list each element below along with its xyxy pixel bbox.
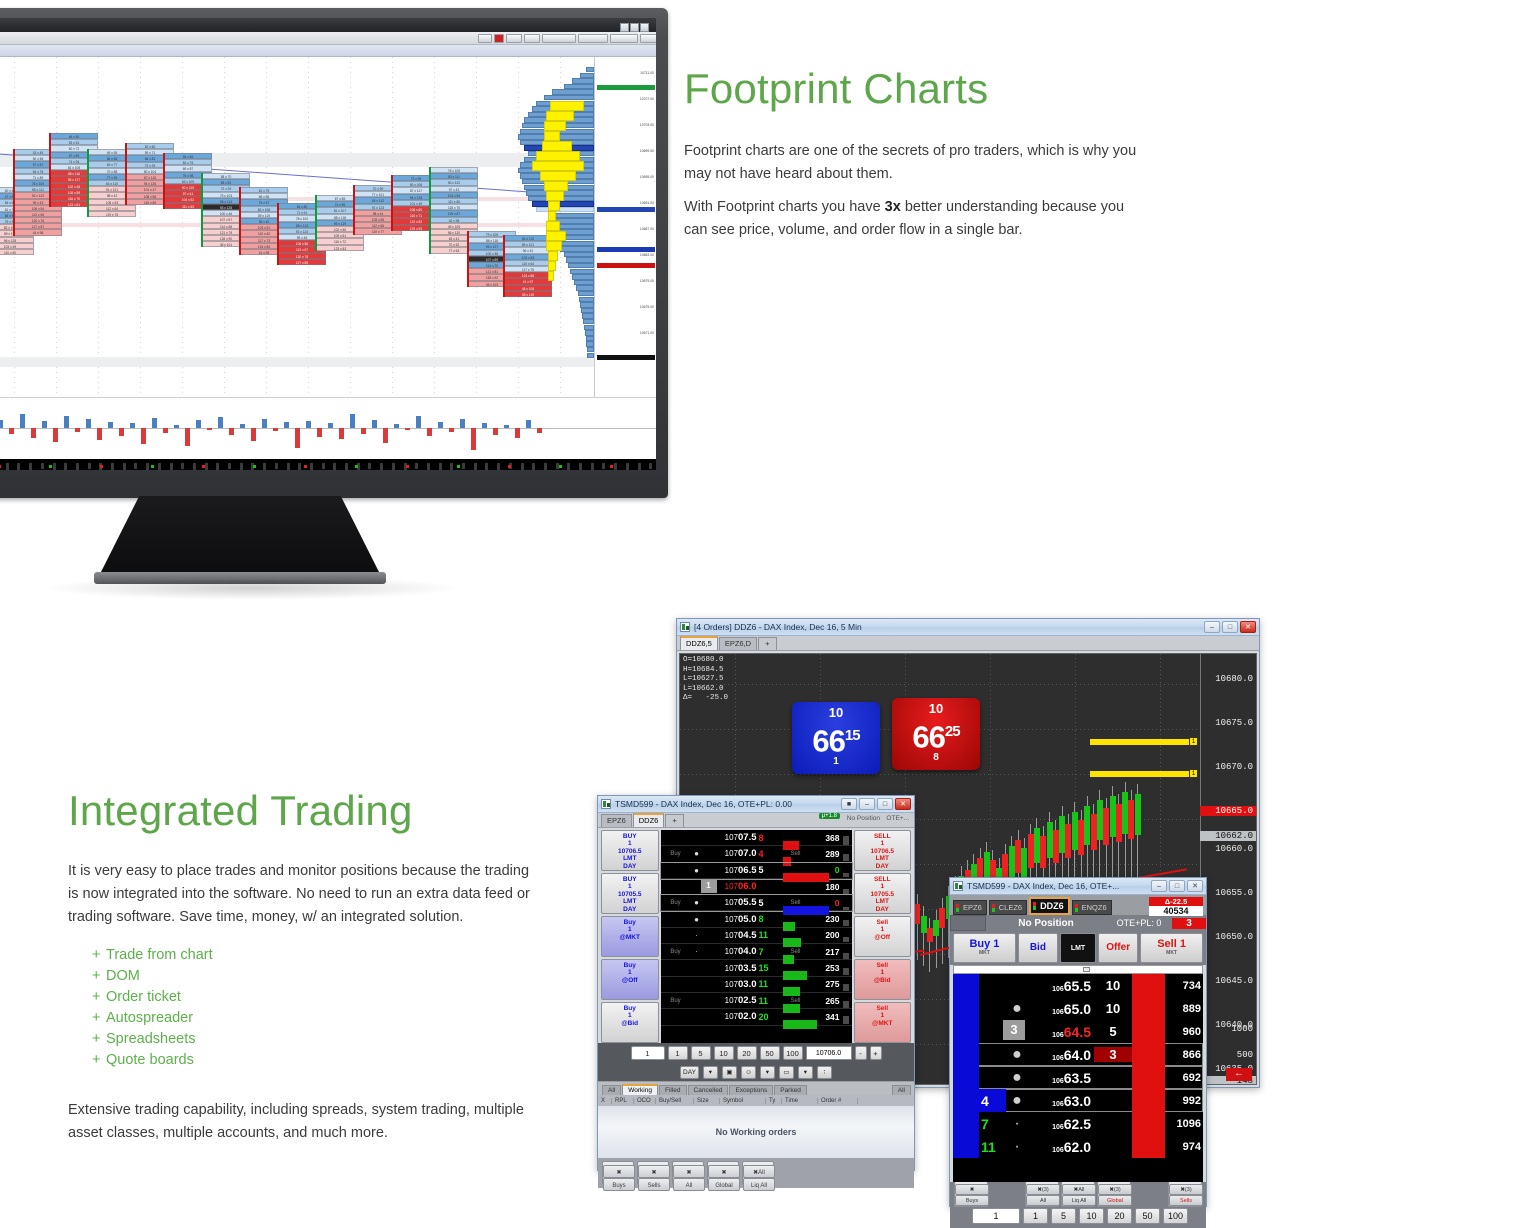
- footer-spacer: [990, 1193, 1023, 1195]
- footer-spacer: [1133, 1193, 1166, 1195]
- order-quantity-tag: 1: [1189, 769, 1198, 778]
- orders-tab-exceptions[interactable]: Exceptions: [729, 1085, 773, 1095]
- dom2-window-buttons[interactable]: ‒ □ ✕: [1151, 880, 1203, 892]
- maximize-icon[interactable]: □: [1169, 880, 1185, 892]
- dom-tool-button[interactable]: ▾: [760, 1066, 775, 1079]
- cancel-icon: ✖(3): [1169, 1184, 1203, 1195]
- tape-tick: [462, 463, 465, 469]
- bid-cell[interactable]: Buy: [661, 900, 691, 906]
- quantity-button[interactable]: 10: [714, 1046, 734, 1060]
- delta-bar: [405, 428, 410, 430]
- buy-order-button[interactable]: BUY110705.5LMTDAY: [601, 873, 659, 914]
- buy-button[interactable]: Buy 1 MKT: [953, 933, 1016, 963]
- orders-tab-filled[interactable]: Filled: [659, 1085, 687, 1095]
- cancel-button-buys[interactable]: ✖Buys: [602, 1161, 634, 1185]
- bid-dot: ●: [691, 898, 703, 907]
- order-button-line: 1: [602, 926, 658, 933]
- dom2-action-buttons[interactable]: Buy 1 MKT Bid LMT Offer Sell 1 MKT: [950, 931, 1206, 965]
- dom2-tab-enqz6[interactable]: ENQZ6: [1072, 900, 1112, 915]
- ask-depth-bar: [1132, 1112, 1165, 1135]
- dom-window-buttons[interactable]: ■ ‒ □ ✕: [841, 798, 911, 810]
- ask-quote-bottom: 8: [892, 752, 980, 763]
- dom2-cancel-buttons[interactable]: ✖Buys✖(3)All✖AllLiq All✖(3)Global✖(3)Sel…: [950, 1182, 1206, 1206]
- maximize-icon[interactable]: □: [877, 798, 893, 810]
- maximize-icon[interactable]: □: [1222, 621, 1238, 633]
- orders-tab-all[interactable]: All: [602, 1085, 621, 1095]
- orders-column-header: Time: [782, 1098, 818, 1104]
- tape-tick: [123, 463, 126, 470]
- dom2-price: 10664.5: [1028, 1024, 1094, 1040]
- ladder-row[interactable]: 10702.020341: [661, 1009, 852, 1025]
- buy-button-column[interactable]: BUY110706.5LMTDAYBUY110705.5LMTDAYBuy1@M…: [601, 830, 659, 1043]
- dom2-cancel-sells[interactable]: ✖(3)Sells: [1168, 1181, 1202, 1207]
- toolbar-button[interactable]: [524, 34, 540, 43]
- pin-icon[interactable]: ■: [841, 798, 857, 810]
- ladder-volume: 217: [809, 947, 843, 957]
- volume-profile-bar: [536, 207, 594, 212]
- pnl-value: 40534: [1149, 906, 1203, 916]
- cancel-icon: ✖(3): [1098, 1184, 1132, 1195]
- scroll-back-icon[interactable]: ←: [1226, 1068, 1252, 1081]
- monitor-screen: 40 x 4047 x 5154 x 6261 x 7368 x 8475 x …: [0, 18, 656, 470]
- dom2-cancel-all[interactable]: ✖(3)All: [1025, 1181, 1059, 1207]
- delta-bar: [361, 428, 366, 434]
- dom2-quantity-current[interactable]: 1: [972, 1208, 1020, 1224]
- bar-close-marker: [503, 235, 505, 297]
- delta-bar: [427, 428, 432, 436]
- buy-button-sub: MKT: [954, 950, 1015, 956]
- order-button-line: 1: [855, 969, 911, 976]
- offer-button[interactable]: Offer: [1098, 933, 1138, 963]
- volume-profile-bar: [582, 313, 594, 318]
- volume-profile-bar: [586, 341, 594, 346]
- quantity-button[interactable]: 5: [691, 1046, 711, 1060]
- delta-bar: [207, 428, 212, 430]
- volume-profile-bar: [581, 308, 594, 313]
- orders-tab-cancelled[interactable]: Cancelled: [688, 1085, 729, 1095]
- sell-order-button[interactable]: Sell1@MKT: [854, 1002, 912, 1043]
- delta-bar: [130, 423, 135, 428]
- close-icon[interactable]: ✕: [1240, 621, 1256, 633]
- tape-tick: [228, 463, 231, 469]
- dom2-quantity-button[interactable]: 20: [1107, 1208, 1132, 1224]
- feature-label: DOM: [106, 968, 140, 984]
- value-area-overlay: [536, 151, 580, 161]
- ladder-row[interactable]: Buy·10704.07Sell217: [661, 944, 852, 960]
- ladder-price: 10704.5: [703, 930, 759, 941]
- dom2-ladder-row[interactable]: 10665.510734: [953, 974, 1203, 997]
- dom2-price: 10663.5: [1028, 1070, 1094, 1086]
- order-quantity-tag: 1: [1189, 737, 1198, 746]
- orders-column-header: OCO: [634, 1098, 656, 1104]
- toolbar-button[interactable]: [578, 34, 608, 43]
- dom-tool-button[interactable]: ▾: [703, 1066, 718, 1079]
- dom2-ladder-row[interactable]: ●10664.03866: [953, 1043, 1203, 1066]
- order-button-line: 1: [855, 883, 911, 890]
- value-area-overlay: [546, 111, 574, 121]
- volume-bar: [843, 880, 852, 894]
- bid-cell[interactable]: Buy: [661, 949, 691, 955]
- tape-tick: [614, 463, 617, 470]
- value-area-overlay: [544, 121, 566, 131]
- minimize-icon[interactable]: ‒: [1204, 621, 1220, 633]
- value-area-overlay: [542, 141, 572, 151]
- bid-quantity: 4: [979, 1089, 1006, 1112]
- volume-profile: [516, 57, 594, 397]
- dom2-cancel-global[interactable]: ✖(3)Global: [1097, 1181, 1131, 1207]
- dom-tab-[interactable]: +: [665, 814, 683, 827]
- volume-profile-bar: [572, 78, 594, 83]
- ask-quantity: 10: [1094, 978, 1132, 993]
- dom-status-no-position: No Position: [847, 815, 880, 822]
- minimize-icon[interactable]: ‒: [1151, 880, 1167, 892]
- delta-bar: [42, 421, 47, 428]
- dom2-ladder-row[interactable]: 7·10662.51096: [953, 1112, 1203, 1135]
- quantity-button[interactable]: 1: [631, 1046, 665, 1060]
- chart-gridline: [140, 57, 141, 397]
- price-scale-tick: 10670.0: [1215, 762, 1253, 772]
- price-tick: 10703.00: [640, 123, 654, 128]
- bid-cell[interactable]: Buy: [661, 851, 691, 857]
- orders-tabstrip[interactable]: AllWorkingFilledCancelledExceptionsParke…: [598, 1081, 914, 1095]
- ladder-row[interactable]: 10706.01801: [661, 879, 852, 895]
- dom2-volume: 992: [1165, 1095, 1203, 1107]
- dom-order-window[interactable]: TSMD599 - DAX Index, Dec 16, OTE+PL: 0.0…: [597, 795, 915, 1171]
- working-order-marker[interactable]: 1: [701, 879, 717, 893]
- cancel-label: Liq All: [743, 1178, 775, 1191]
- cancel-button-liq-all[interactable]: ✖AllLiq All: [742, 1161, 774, 1185]
- ask-depth-bar: [1132, 997, 1165, 1020]
- chart-tab-[interactable]: +: [758, 637, 776, 650]
- delta-bar: [350, 414, 355, 428]
- dom2-tab-ddz6[interactable]: DDZ6: [1029, 897, 1070, 915]
- dom2-window-titlebar[interactable]: TSMD599 - DAX Index, Dec 16, OTE+... ‒ □…: [950, 878, 1206, 895]
- sell-order-button[interactable]: SELL110705.5LMTDAY: [854, 873, 912, 914]
- ote-badge: 3: [1172, 918, 1206, 929]
- volume-profile-bar: [544, 95, 594, 100]
- tape-tick: [626, 463, 629, 470]
- ladder-price: 10705.5: [703, 897, 759, 908]
- orders-tab-all-right[interactable]: All: [892, 1085, 911, 1095]
- toolbar-button[interactable]: [494, 34, 504, 43]
- integrated-paragraph-1: It is very easy to place trades and moni…: [68, 860, 538, 930]
- close-icon[interactable]: ✕: [1187, 880, 1203, 892]
- feature-list-item: +Autospreader: [92, 1008, 422, 1029]
- bid-quantity: [979, 997, 1006, 1020]
- dom-tabstrip[interactable]: μ+1.8 No Position OTE+... EPZ6DDZ6+: [598, 813, 914, 828]
- dom2-ladder-row[interactable]: 11·10662.0974: [953, 1135, 1203, 1158]
- bid-button[interactable]: Bid: [1018, 933, 1058, 963]
- delta-bar: [306, 421, 311, 428]
- feature-label: Autospreader: [106, 1010, 193, 1026]
- dom-tool-button[interactable]: ∶: [817, 1066, 832, 1079]
- dom2-ladder-row[interactable]: ●10663.5692: [953, 1066, 1203, 1089]
- dom-tool-button[interactable]: DAY: [680, 1066, 699, 1079]
- toolbar-button[interactable]: [506, 34, 522, 43]
- tape-dot: [253, 465, 256, 468]
- price-input[interactable]: 10706.0: [806, 1046, 852, 1060]
- minimize-icon[interactable]: ‒: [859, 798, 875, 810]
- ask-quantity: 3: [1094, 1047, 1132, 1062]
- value-area-overlay: [548, 201, 560, 211]
- dom-tool-button[interactable]: ▭: [779, 1066, 794, 1079]
- dom2-quantity-button[interactable]: 5: [1051, 1208, 1076, 1224]
- order-button-line: LMT: [602, 855, 658, 862]
- tape-tick: [146, 463, 149, 470]
- buy-order-button[interactable]: Buy1@Bid: [601, 1002, 659, 1043]
- dom2-cancel-buys[interactable]: ✖Buys: [954, 1181, 988, 1207]
- bid-cell[interactable]: Buy: [661, 998, 691, 1004]
- ote-text: OTE+PL: 0: [1106, 918, 1172, 928]
- price-step-button[interactable]: -: [855, 1046, 867, 1060]
- ladder-row[interactable]: ●10706.550: [661, 863, 852, 879]
- order-button-line: SELL: [855, 833, 911, 840]
- dom2-tab-epz6[interactable]: EPZ6: [953, 900, 987, 915]
- ladder-quantity: 11: [759, 996, 783, 1006]
- orders-cancel-buttons[interactable]: ✖Buys✖Sells✖All✖Global✖AllLiq All: [598, 1158, 914, 1188]
- orders-tab-parked[interactable]: Parked: [774, 1085, 807, 1095]
- dom-ladder-grid[interactable]: BUY110706.5LMTDAYBUY110705.5LMTDAYBuy1@M…: [601, 830, 911, 1043]
- tape-tick: [450, 463, 453, 470]
- bid-depth-bar: [953, 1112, 979, 1135]
- order-button-line: 10706.5: [602, 848, 658, 855]
- value-area-overlay: [550, 101, 584, 111]
- dom2-quantity-buttons[interactable]: 115102050100: [950, 1206, 1206, 1228]
- tape-tick: [415, 463, 418, 469]
- volume-profile-bar: [566, 257, 594, 262]
- quantity-button[interactable]: 100: [783, 1046, 803, 1060]
- delta-bar: [218, 417, 223, 428]
- feature-list-item: +Quote boards: [92, 1050, 422, 1071]
- sell-button[interactable]: Sell 1 MKT: [1140, 933, 1203, 963]
- price-scale-tick: 10645.0: [1215, 976, 1253, 986]
- feature-list: +Trade from chart+DOM+Order ticket+Autos…: [92, 945, 422, 1071]
- chart-window-titlebar[interactable]: [4 Orders] DDZ6 - DAX Index, Dec 16, 5 M…: [677, 619, 1259, 636]
- ladder-row[interactable]: 10703.011275: [661, 977, 852, 993]
- orders-tab-working[interactable]: Working: [622, 1084, 658, 1095]
- bid-quote-top: 10: [792, 702, 880, 720]
- delta-bar: [383, 428, 388, 443]
- cancel-label: All: [673, 1178, 705, 1191]
- chart-tabstrip[interactable]: DDZ6,5EPZ6,D+: [677, 636, 1259, 651]
- app-toolbar-secondary[interactable]: [0, 45, 656, 57]
- ladder-volume: 289: [809, 849, 843, 859]
- tape-tick: [392, 463, 395, 470]
- volume-profile-bar: [583, 319, 594, 324]
- toolbar-button[interactable]: [610, 34, 638, 43]
- chart-gridline: [98, 57, 99, 397]
- ladder-row[interactable]: 10707.58368: [661, 830, 852, 846]
- footprint-cell: 119 x 75: [88, 211, 136, 217]
- dom-toolbar[interactable]: DAY▾▣☺▾▭▾∶: [598, 1063, 914, 1081]
- ladder-row[interactable]: Buy●10707.04Sell289: [661, 846, 852, 862]
- lmt-button[interactable]: LMT: [1060, 933, 1096, 963]
- cancel-button-sells[interactable]: ✖Sells: [637, 1161, 669, 1185]
- price-ladder[interactable]: 10707.58368Buy●10707.04Sell289●10706.550…: [661, 830, 852, 1043]
- dom2-quantity-button[interactable]: 50: [1135, 1208, 1160, 1224]
- dom-tool-button[interactable]: ▣: [722, 1066, 737, 1079]
- feature-label: Quote boards: [106, 1052, 194, 1068]
- value-area-overlay: [548, 211, 556, 221]
- chart-price-scale[interactable]: 10680.010675.010670.010665.010662.010660…: [1200, 654, 1256, 1084]
- ladder-row[interactable]: Buy●10705.55Sell0: [661, 895, 852, 911]
- value-area-overlay: [546, 191, 564, 201]
- app-toolbar-primary[interactable]: [0, 32, 656, 45]
- dom-window-titlebar[interactable]: TSMD599 - DAX Index, Dec 16, OTE+PL: 0.0…: [598, 796, 914, 813]
- horizontal-scrollbar[interactable]: [953, 965, 1203, 974]
- value-area-overlay: [544, 181, 568, 191]
- cancel-button-global[interactable]: ✖Global: [707, 1161, 739, 1185]
- ask-depth-bar: [1132, 1089, 1165, 1112]
- delta-bar: [471, 428, 476, 450]
- dom2-quantity-button[interactable]: 100: [1163, 1208, 1188, 1224]
- volume-bar: [843, 945, 852, 959]
- delta-bar: [372, 420, 377, 428]
- bid-quantity: [979, 1020, 1006, 1043]
- dom2-quantity-button[interactable]: 1: [1023, 1208, 1048, 1224]
- bid-quote-bottom: 1: [792, 756, 880, 767]
- delta-bar: [229, 428, 234, 435]
- chart-tab-epz6d[interactable]: EPZ6,D: [719, 637, 757, 650]
- delta-bar: [493, 428, 498, 435]
- chart-tab-ddz65[interactable]: DDZ6,5: [680, 636, 718, 650]
- dom2-ladder-row[interactable]: ●10665.010889: [953, 997, 1203, 1020]
- price-scale[interactable]: 10711.0010707.0010703.0010699.0010695.00…: [594, 57, 656, 397]
- value-area-overlay: [540, 171, 576, 181]
- ladder-quantity: 8: [759, 914, 783, 924]
- ladder-price: 10705.0: [703, 914, 759, 925]
- dom-tool-button[interactable]: ▾: [798, 1066, 813, 1079]
- orders-column-header: Ty: [766, 1098, 782, 1104]
- dom2-ladder-row[interactable]: 4●10663.0992: [953, 1089, 1203, 1112]
- dom-tool-button[interactable]: ☺: [741, 1066, 756, 1079]
- order-button-line: Sell: [855, 962, 911, 969]
- feature-label: Order ticket: [106, 989, 181, 1005]
- sell-order-button[interactable]: Sell1@Off: [854, 916, 912, 957]
- toolbar-button[interactable]: [542, 34, 576, 43]
- plus-icon: +: [92, 945, 106, 966]
- order-line-yellow[interactable]: [1090, 739, 1198, 745]
- quantity-button[interactable]: 50: [760, 1046, 780, 1060]
- cancel-icon: ✖: [603, 1165, 635, 1178]
- dom-window-title: TSMD599 - DAX Index, Dec 16, OTE+PL: 0.0…: [615, 799, 792, 809]
- buy-order-button[interactable]: Buy1@MKT: [601, 916, 659, 957]
- tape-tick: [333, 463, 336, 470]
- tape-tick: [263, 463, 266, 470]
- ladder-row[interactable]: Buy10702.511Sell265: [661, 993, 852, 1009]
- ladder-quantity: 5: [759, 898, 783, 908]
- plus-icon: +: [92, 1050, 106, 1071]
- bid-quantity: 7: [979, 1112, 1006, 1135]
- dom2-cancel-liq-all[interactable]: ✖AllLiq All: [1061, 1181, 1095, 1207]
- cancel-label: Sells: [638, 1178, 670, 1191]
- window-controls[interactable]: [619, 19, 653, 29]
- bar-close-marker: [163, 153, 165, 209]
- tape-tick: [497, 463, 500, 470]
- ladder-row[interactable]: 10703.515253: [661, 960, 852, 976]
- order-button-line: 1: [855, 1012, 911, 1019]
- quantity-button[interactable]: 1: [668, 1046, 688, 1060]
- ladder-row[interactable]: ·10704.511200: [661, 928, 852, 944]
- settle-price-label: 10662.0: [1200, 831, 1256, 841]
- tape-dot: [406, 465, 409, 468]
- buy-order-button[interactable]: BUY110706.5LMTDAY: [601, 830, 659, 871]
- order-button-line: DAY: [602, 906, 658, 913]
- tape-tick: [521, 463, 524, 470]
- ask-depth-bar: [1132, 1066, 1165, 1089]
- price-marker: [597, 247, 655, 252]
- order-button-line: LMT: [855, 855, 911, 862]
- volume-profile-bar: [570, 269, 594, 274]
- order-button-line: 1: [855, 840, 911, 847]
- dom-tab-ddz6[interactable]: DDZ6: [633, 813, 665, 827]
- delta-bar: [482, 423, 487, 428]
- cancel-icon: ✖All: [1062, 1184, 1096, 1195]
- price-tick: 10695.00: [640, 175, 654, 180]
- delta-bar: [108, 422, 113, 428]
- dom-secondary-window[interactable]: TSMD599 - DAX Index, Dec 16, OTE+... ‒ □…: [949, 877, 1207, 1207]
- integrated-trading-heading: Integrated Trading: [68, 788, 413, 834]
- dom2-price-ladder[interactable]: 10665.510734●10665.01088910664.559603●10…: [953, 974, 1203, 1182]
- chart-window-buttons[interactable]: ‒ □ ✕: [1204, 621, 1256, 633]
- orders-column-header: X: [598, 1098, 612, 1104]
- bid-quote-badge: 10 6615 1: [792, 702, 880, 774]
- sell-button-column[interactable]: SELL110706.5LMTDAYSELL110705.5LMTDAYSell…: [854, 830, 912, 1043]
- bid-dot: ●: [691, 915, 703, 924]
- dom-tab-epz6[interactable]: EPZ6: [601, 814, 632, 827]
- price-dot: ●: [1006, 1092, 1028, 1110]
- price-scale-tick: 10655.0: [1215, 888, 1253, 898]
- price-marker: [597, 85, 655, 90]
- close-icon[interactable]: ✕: [895, 798, 911, 810]
- volume-profile-bar: [580, 302, 594, 307]
- ladder-row[interactable]: ●10705.08230: [661, 911, 852, 927]
- quantity-button[interactable]: 20: [737, 1046, 757, 1060]
- tape-tick: [205, 463, 208, 470]
- volume-bar: [843, 961, 852, 975]
- plus-icon: +: [92, 966, 106, 987]
- bar-close-marker: [13, 149, 15, 236]
- order-line-yellow[interactable]: [1090, 771, 1198, 777]
- bar-close-marker: [391, 175, 393, 231]
- sell-order-button[interactable]: Sell1@Bid: [854, 959, 912, 1000]
- bid-dot: ●: [691, 866, 703, 875]
- dom2-ladder-row[interactable]: 10664.559603: [953, 1020, 1203, 1043]
- working-order-marker[interactable]: 3: [1003, 1020, 1025, 1040]
- ladder-price: 10707.5: [703, 832, 759, 843]
- bid-dot: ●: [691, 849, 703, 858]
- bid-dot: ·: [691, 931, 703, 940]
- feature-list-item: +DOM: [92, 966, 422, 987]
- monitor-stand: [100, 496, 380, 574]
- cancel-button-all[interactable]: ✖All: [672, 1161, 704, 1185]
- bid-quantity: [979, 974, 1006, 997]
- ask-depth-bar: [1132, 1020, 1165, 1043]
- bid-quote-price: 6615: [792, 720, 880, 756]
- dom2-volume: 1096: [1165, 1118, 1203, 1130]
- toolbar-button[interactable]: [478, 34, 492, 43]
- dom2-tab-clez6[interactable]: CLEZ6: [989, 900, 1027, 915]
- sell-order-button[interactable]: SELL110706.5LMTDAY: [854, 830, 912, 871]
- quantity-selector-row[interactable]: 11510205010010706.0-+: [598, 1043, 914, 1063]
- dom2-quantity-button[interactable]: 10: [1079, 1208, 1104, 1224]
- volume-profile-bar: [564, 84, 594, 89]
- ladder-price: 10703.0: [703, 979, 759, 990]
- toolbar-button[interactable]: [640, 34, 656, 43]
- price-step-button[interactable]: +: [870, 1046, 882, 1060]
- buy-order-button[interactable]: Buy1@Off: [601, 959, 659, 1000]
- delta-bar: [317, 428, 322, 437]
